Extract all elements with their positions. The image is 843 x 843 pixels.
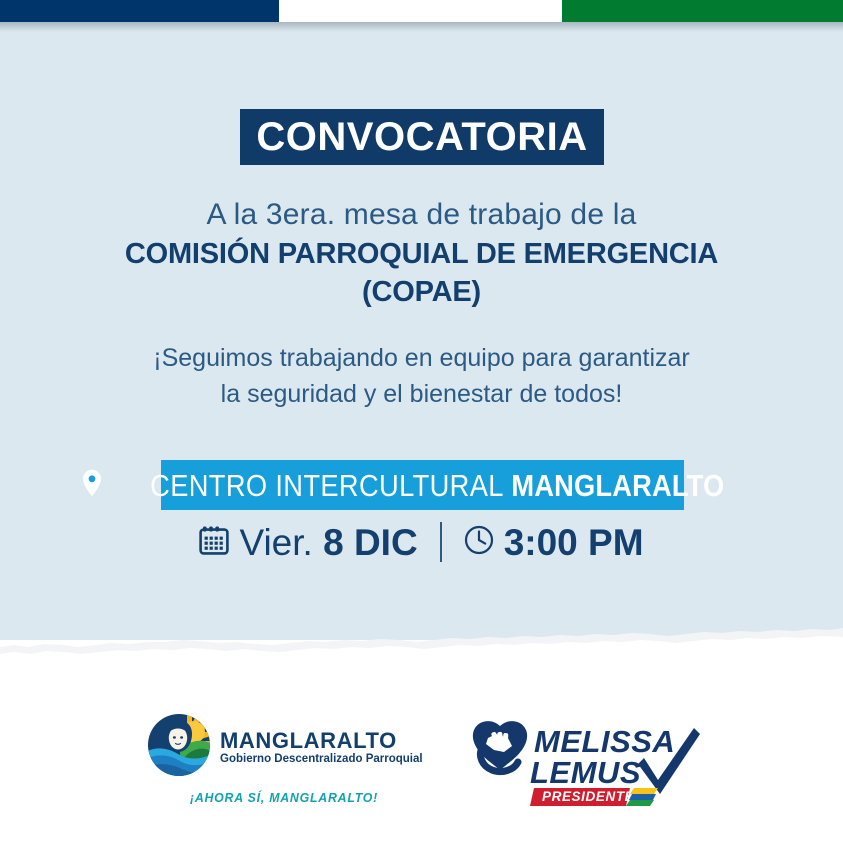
clock-icon	[464, 525, 494, 560]
location-text: CENTRO INTERCULTURAL MANGLARALTO	[150, 470, 724, 501]
time-group: 3:00 PM	[464, 524, 644, 561]
headline-line-1: A la 3era. mesa de trabajo de la	[0, 196, 843, 234]
headline-block: A la 3era. mesa de trabajo de la COMISIÓ…	[0, 196, 843, 312]
date-value: 8 DIC	[323, 522, 418, 563]
presidente-badge: PRESIDENTE	[530, 788, 635, 806]
location-name: MANGLARALTO	[511, 468, 724, 503]
manglaralto-emblem-icon	[146, 712, 212, 783]
melissa-last-name: LEMUS	[530, 755, 641, 790]
time-value: 3:00 PM	[504, 522, 644, 563]
top-color-bar	[0, 0, 843, 22]
melissa-lemus-logo: MELISSA LEMUS PRESIDENTE	[468, 714, 708, 806]
manglaralto-subtitle: Gobierno Descentralizado Parroquial	[220, 753, 423, 766]
manglaralto-logo-row: MANGLARALTO Gobierno Descentralizado Par…	[146, 712, 423, 783]
torn-paper-edge	[0, 614, 843, 674]
slogan-line-2: la seguridad y el bienestar de todos!	[0, 376, 843, 412]
topbar-green-segment	[562, 0, 843, 22]
poster-canvas: CONVOCATORIA A la 3era. mesa de trabajo …	[0, 0, 843, 843]
datetime-divider	[440, 522, 442, 562]
svg-text:PRESIDENTE: PRESIDENTE	[542, 789, 635, 804]
headline-line-3: (COPAE)	[0, 274, 843, 312]
manglaralto-wordmark: MANGLARALTO Gobierno Descentralizado Par…	[220, 729, 423, 766]
manglaralto-slogan: ¡AHORA SÍ, MANGLARALTO!	[190, 790, 378, 805]
logo-row: MANGLARALTO Gobierno Descentralizado Par…	[0, 712, 843, 812]
location-prefix: CENTRO INTERCULTURAL	[150, 468, 504, 503]
date-text: Vier. 8 DIC	[239, 524, 417, 561]
manglaralto-title: MANGLARALTO	[220, 729, 423, 752]
page-title: CONVOCATORIA	[256, 117, 587, 157]
heart-handshake-icon	[473, 721, 527, 772]
datetime-row: Vier. 8 DIC 3:00 PM	[0, 522, 843, 562]
topbar-white-segment	[279, 0, 562, 22]
map-pin-icon	[82, 469, 102, 502]
location-banner: CENTRO INTERCULTURAL MANGLARALTO	[161, 460, 684, 510]
manglaralto-logo: MANGLARALTO Gobierno Descentralizado Par…	[146, 712, 423, 805]
date-weekday: Vier.	[239, 522, 312, 563]
slogan-line-1: ¡Seguimos trabajando en equipo para gara…	[0, 340, 843, 376]
calendar-icon	[199, 525, 229, 560]
topbar-shadow	[0, 22, 843, 32]
slogan-block: ¡Seguimos trabajando en equipo para gara…	[0, 340, 843, 413]
title-banner: CONVOCATORIA	[240, 109, 604, 165]
time-text: 3:00 PM	[504, 524, 644, 561]
topbar-navy-segment	[0, 0, 279, 22]
date-group: Vier. 8 DIC	[199, 524, 417, 561]
melissa-first-name: MELISSA	[534, 724, 675, 759]
headline-line-2: COMISIÓN PARROQUIAL DE EMERGENCIA	[0, 236, 843, 274]
